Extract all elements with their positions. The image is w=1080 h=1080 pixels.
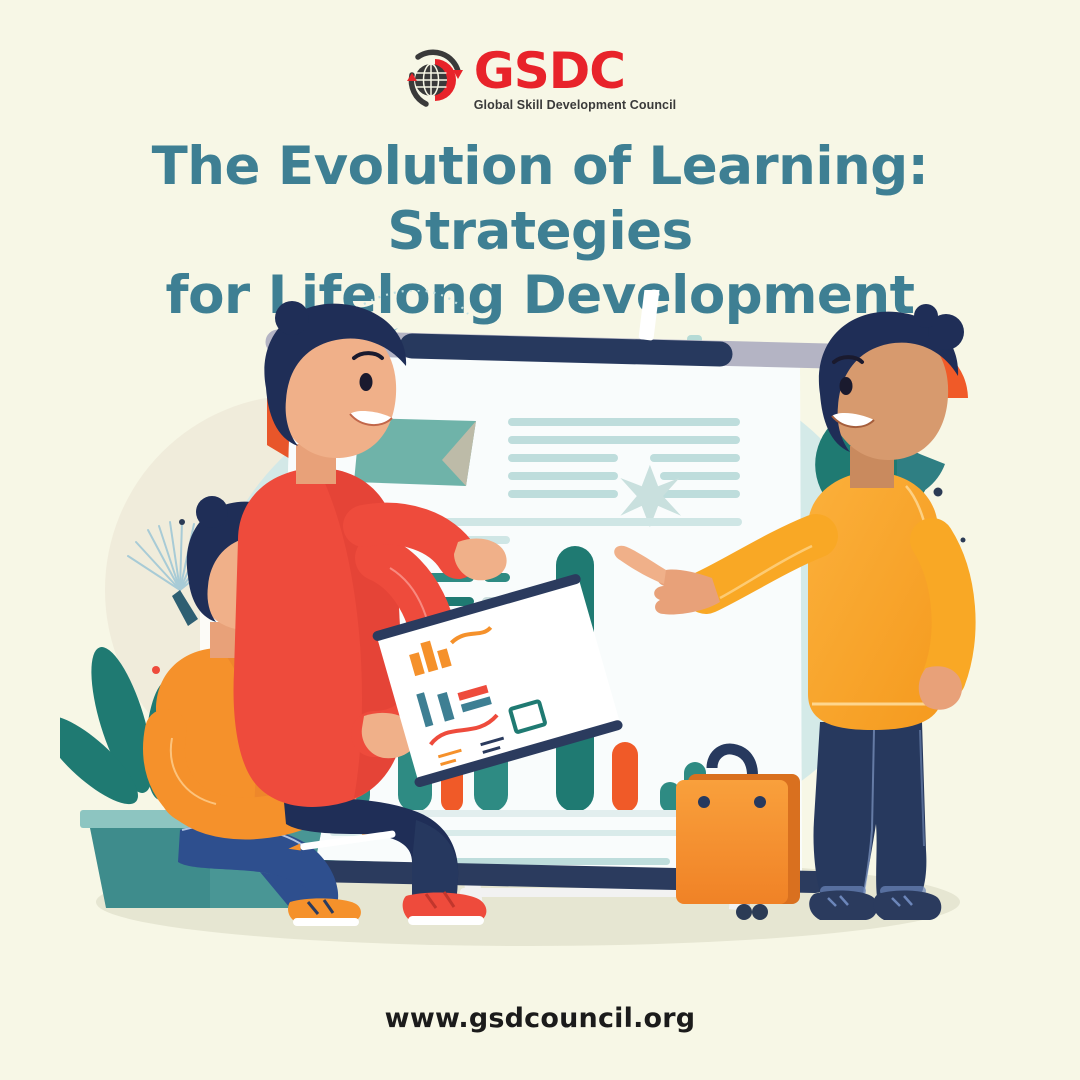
illustration	[60, 290, 1020, 950]
website-url[interactable]: www.gsdcouncil.org	[0, 1003, 1080, 1034]
page-title-line-1: The Evolution of Learning: Strategies	[70, 135, 1010, 264]
brand-logo[interactable]: GSDC Global Skill Development Council	[0, 44, 1080, 116]
brand-lockup-text: GSDC Global Skill Development Council	[474, 48, 677, 112]
brand-name: GSDC	[474, 48, 625, 96]
globe-arc-icon	[404, 49, 466, 111]
poster-canvas: GSDC Global Skill Development Council Th…	[0, 0, 1080, 1080]
brand-tagline: Global Skill Development Council	[474, 98, 677, 112]
